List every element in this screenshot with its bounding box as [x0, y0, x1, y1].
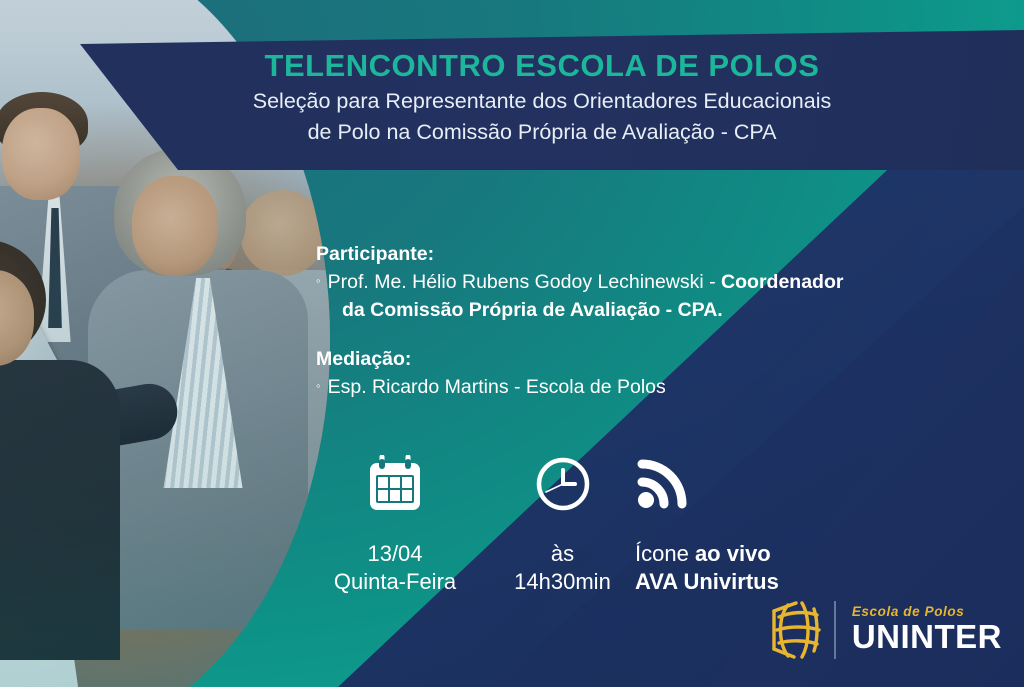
uninter-logo: Escola de Polos UNINTER: [772, 599, 1002, 661]
mediation-name: Esp. Ricardo Martins - Escola de Polos: [328, 374, 666, 402]
event-date-text: 13/04 Quinta-Feira: [334, 540, 456, 596]
participant-name-plain: Prof. Me. Hélio Rubens Godoy Lechinewski…: [328, 271, 721, 293]
mediation-label: Mediação:: [316, 345, 936, 374]
page-subtitle-line-1: Seleção para Representante dos Orientado…: [60, 84, 1024, 115]
event-date-day: 13/04: [334, 540, 456, 568]
event-time-value: 14h30min: [514, 568, 611, 596]
participant-name: Prof. Me. Hélio Rubens Godoy Lechinewski…: [328, 269, 844, 297]
bullet-icon: ◦: [316, 269, 321, 294]
logo-wordmark: Escola de Polos UNINTER: [846, 605, 1002, 654]
section-spacer: [316, 325, 936, 345]
logo-divider: [834, 601, 836, 659]
event-time-block: às 14h30min: [490, 452, 635, 596]
calendar-icon: [367, 452, 423, 516]
uninter-globe-icon: [772, 599, 824, 661]
event-channel-text: Ícone ao vivo AVA Univirtus: [635, 540, 779, 596]
event-time-preposition: às: [514, 540, 611, 568]
event-channel-platform: AVA Univirtus: [635, 568, 779, 596]
event-date-block: 13/04 Quinta-Feira: [300, 452, 490, 596]
clock-icon: [534, 452, 592, 516]
event-time-text: às 14h30min: [514, 540, 611, 596]
title-text-group: TELENCONTRO ESCOLA DE POLOS Seleção para…: [60, 30, 1024, 146]
page-title: TELENCONTRO ESCOLA DE POLOS: [60, 48, 1024, 84]
page-subtitle-line-2: de Polo na Comissão Própria de Avaliação…: [60, 115, 1024, 146]
logo-uninter: UNINTER: [852, 620, 1002, 655]
telencontro-banner: TELENCONTRO ESCOLA DE POLOS Seleção para…: [0, 0, 1024, 687]
event-info-row: 13/04 Quinta-Feira às 14h30min: [300, 452, 820, 596]
bullet-icon: ◦: [316, 374, 321, 399]
details-block: Participante: ◦ Prof. Me. Hélio Rubens G…: [316, 240, 936, 402]
live-broadcast-icon: [635, 452, 689, 516]
participant-role: Coordenador: [721, 271, 843, 293]
participant-list-item: ◦ Prof. Me. Hélio Rubens Godoy Lechinews…: [316, 269, 936, 297]
event-date-weekday: Quinta-Feira: [334, 568, 456, 596]
participant-role-continued: da Comissão Própria de Avaliação - CPA.: [316, 297, 936, 325]
event-channel-highlight: ao vivo: [695, 541, 771, 566]
event-channel-block: Ícone ao vivo AVA Univirtus: [635, 452, 820, 596]
event-channel-line-1: Ícone ao vivo: [635, 540, 779, 568]
participant-label: Participante:: [316, 240, 936, 269]
mediation-list-item: ◦ Esp. Ricardo Martins - Escola de Polos: [316, 374, 936, 402]
event-channel-prefix: Ícone: [635, 541, 695, 566]
title-banner-bar: TELENCONTRO ESCOLA DE POLOS Seleção para…: [60, 30, 1024, 170]
